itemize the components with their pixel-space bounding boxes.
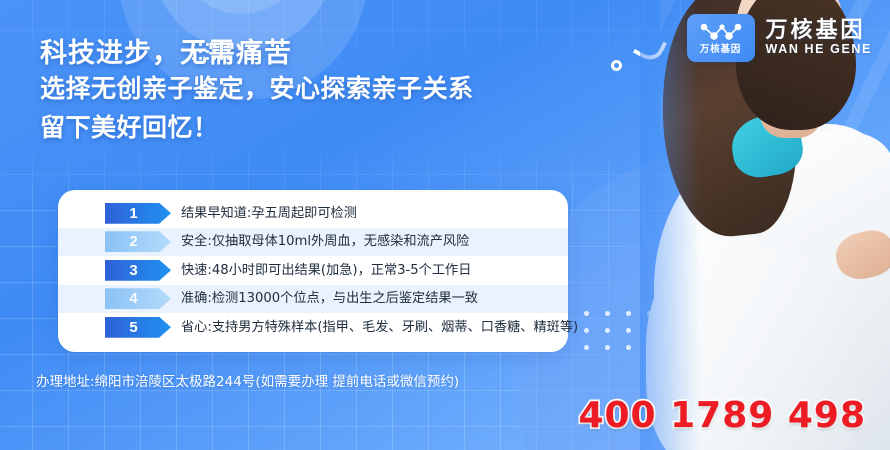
promo-banner: 万核基因 万核基因 WAN HE GENE 科技进步，无需痛苦 选择无创亲子鉴定…: [0, 0, 890, 450]
headline-dot-decoration: [190, 41, 234, 63]
address-text: 办理地址:绵阳市涪陵区太极路244号(如需要办理 提前电话或微信预约): [36, 370, 459, 390]
feature-number-badge: 5: [105, 317, 171, 338]
logo-badge-text: 万核基因: [700, 45, 741, 55]
feature-number: 3: [129, 263, 137, 278]
feature-text: 准确:检测13000个位点，与出生之后鉴定结果一致: [181, 292, 478, 305]
logo-name-en: WAN HE GENE: [766, 42, 873, 58]
features-card: 1 结果早知道:孕五周起即可检测 2 安全:仅抽取母体10ml外周血，无感染和流…: [58, 190, 568, 352]
headline-line-2: 选择无创亲子鉴定，安心探索亲子关系: [40, 70, 474, 109]
feature-text: 快速:48小时即可出结果(加急)，正常3-5个工作日: [181, 264, 471, 277]
headline-line-3: 留下美好回忆！: [40, 109, 474, 147]
headline-line-1-text: 科技进步，无需痛苦: [40, 38, 292, 69]
decorative-ring-icon: [611, 60, 622, 71]
feature-number-badge: 1: [105, 203, 171, 224]
feature-row: 1 结果早知道:孕五周起即可检测: [58, 199, 568, 228]
feature-number: 5: [129, 320, 137, 335]
feature-number-badge: 2: [105, 231, 171, 252]
feature-number: 2: [129, 234, 137, 249]
feature-row: 3 快速:48小时即可出结果(加急)，正常3-5个工作日: [58, 256, 568, 285]
phone-number[interactable]: 400 1789 498: [578, 398, 866, 434]
feature-row: 2 安全:仅抽取母体10ml外周血，无感染和流产风险: [58, 228, 568, 257]
feature-row: 5 省心:支持男方特殊样本(指甲、毛发、牙刷、烟蒂、口香糖、精斑等): [58, 313, 568, 342]
logo-wordmark: 万核基因 WAN HE GENE: [766, 19, 873, 58]
feature-text: 结果早知道:孕五周起即可检测: [181, 207, 357, 220]
feature-number-badge: 3: [105, 260, 171, 281]
feature-number: 4: [129, 291, 137, 306]
headline-line-1: 科技进步，无需痛苦: [40, 38, 474, 70]
feature-row: 4 准确:检测13000个位点，与出生之后鉴定结果一致: [58, 285, 568, 314]
feature-number: 1: [129, 206, 137, 221]
feature-number-badge: 4: [105, 288, 171, 309]
feature-text: 安全:仅抽取母体10ml外周血，无感染和流产风险: [181, 235, 469, 248]
feature-text: 省心:支持男方特殊样本(指甲、毛发、牙刷、烟蒂、口香糖、精斑等): [181, 321, 578, 334]
brand-logo: 万核基因 万核基因 WAN HE GENE: [687, 14, 873, 62]
logo-name-cn: 万核基因: [766, 19, 873, 42]
dna-molecule-icon: [698, 22, 744, 44]
pregnant-woman-photo: [640, 0, 890, 450]
logo-badge: 万核基因: [687, 14, 755, 62]
headline-block: 科技进步，无需痛苦 选择无创亲子鉴定，安心探索亲子关系 留下美好回忆！: [40, 38, 474, 147]
